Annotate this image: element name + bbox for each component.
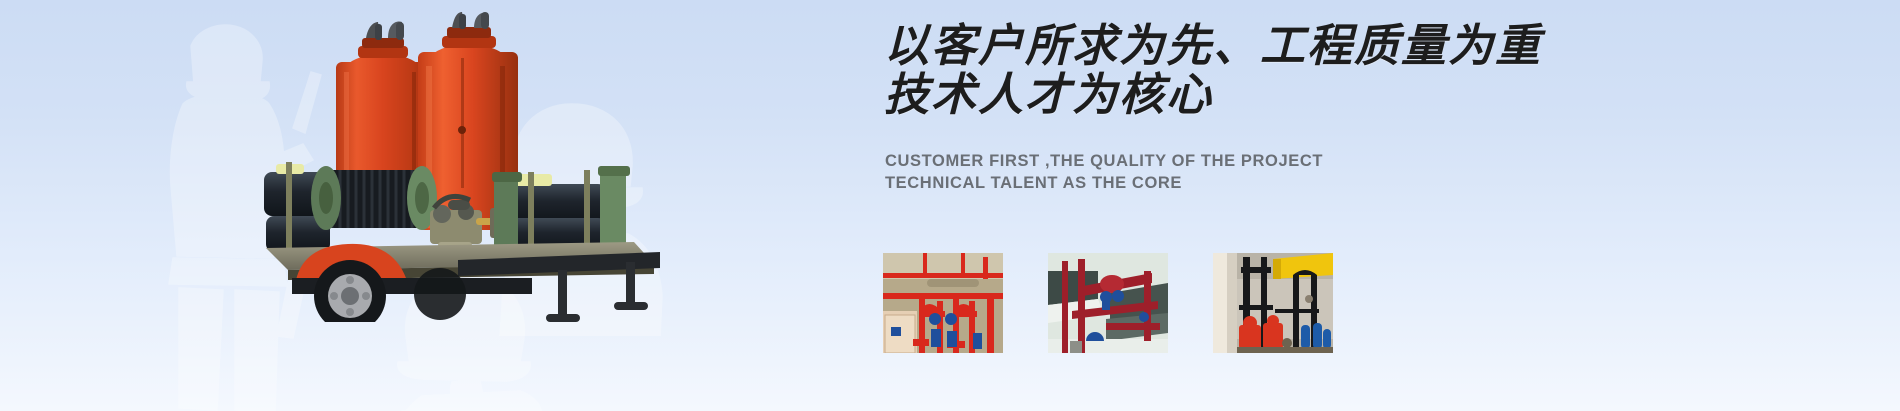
thumbnail-stairwell-riser-piping[interactable] <box>1048 253 1168 353</box>
product-photo-trailer-fire-unit <box>262 12 662 322</box>
thumbnail-boiler-room-equipment[interactable] <box>1213 253 1333 353</box>
thumbnail-strip <box>883 253 1333 353</box>
thumbnail-fire-sprinkler-pipe-room[interactable] <box>883 253 1003 353</box>
subtitle-english: CUSTOMER FIRST ,THE QUALITY OF THE PROJE… <box>885 150 1605 194</box>
headline-chinese: 以客户所求为先、工程质量为重 技术人才为核心 <box>884 22 1604 120</box>
hero-banner: 以客户所求为先、工程质量为重 技术人才为核心 CUSTOMER FIRST ,T… <box>0 0 1900 411</box>
